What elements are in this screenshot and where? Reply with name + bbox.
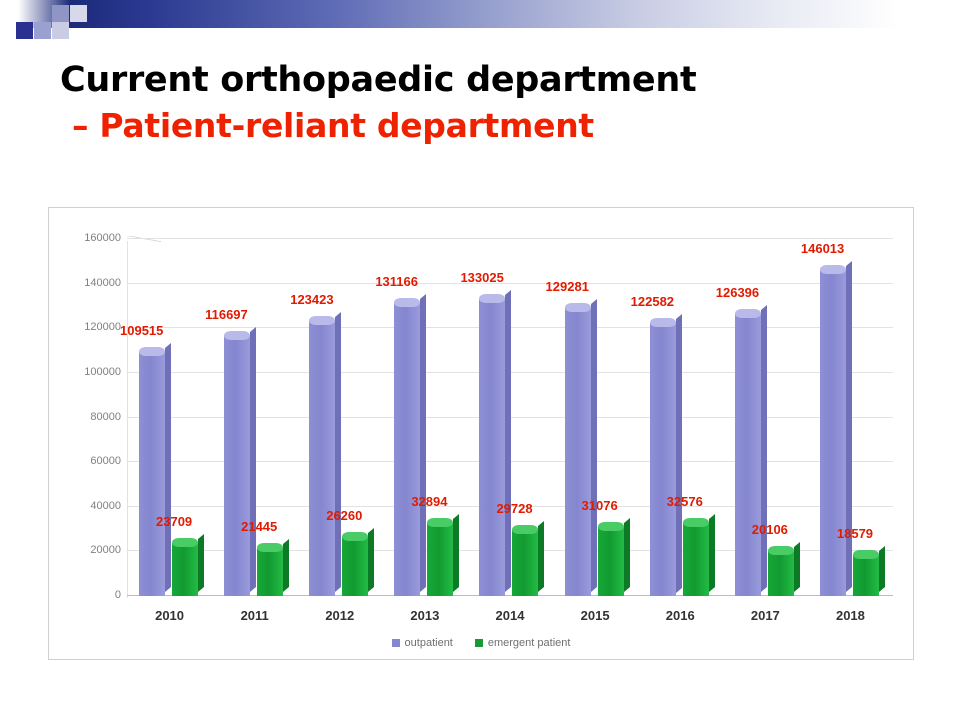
bar-side [198,534,204,592]
bar-emergent[interactable] [342,537,368,596]
bar-face [172,543,198,596]
bar-outpatient[interactable] [735,314,761,596]
bar-side [505,290,511,592]
bar-value-label-emergent: 32894 [411,494,447,509]
page-title: Current orthopaedic department [0,60,960,100]
header-square-upper-right [70,5,87,22]
bar-outpatient[interactable] [820,270,846,596]
bar-side [846,261,852,592]
bar-face [853,555,879,596]
bar-side [250,327,256,592]
bar-top [479,294,505,303]
x-tick-label: 2013 [382,608,467,623]
y-tick-label: 80000 [55,411,121,423]
bar-top [853,550,879,559]
y-tick-label: 0 [55,589,121,601]
x-tick-label: 2016 [638,608,723,623]
bar-side [761,305,767,592]
bar-emergent[interactable] [427,523,453,596]
chart-legend: outpatient emergent patient [49,637,913,649]
bar-side [676,313,682,592]
slide-header-band [0,0,960,46]
bar-value-label-outpatient: 109515 [120,323,163,338]
x-tick-label: 2018 [808,608,893,623]
legend-swatch-emergent-icon [475,639,483,647]
bar-value-label-outpatient: 133025 [460,270,503,285]
bar-value-label-outpatient: 126396 [716,285,759,300]
bar-value-label-outpatient: 131166 [375,274,418,289]
bar-side [368,528,374,592]
bar-top [650,318,676,327]
bar-side [879,546,885,592]
header-gradient-bar [0,0,960,28]
y-tick: 40000 [49,500,121,514]
y-tick: 120000 [49,321,121,335]
bar-outpatient[interactable] [394,303,420,596]
y-tick: 60000 [49,455,121,469]
bar-top [683,518,709,527]
bar-side [165,343,171,592]
bar-top [139,347,165,356]
bar-value-label-outpatient: 129281 [546,279,589,294]
legend-item-outpatient[interactable]: outpatient [392,637,453,649]
y-tick-label: 40000 [55,500,121,512]
bar-side [335,312,341,592]
bar-top [394,298,420,307]
bar-emergent[interactable] [257,548,283,596]
bar-value-label-outpatient: 122582 [631,294,674,309]
x-tick-label: 2015 [553,608,638,623]
y-tick: 80000 [49,411,121,425]
bar-value-label-outpatient: 116697 [205,307,248,322]
bar-top [820,265,846,274]
gridline [127,238,893,239]
bar-value-label-emergent: 26260 [326,508,362,523]
header-square-dark [16,22,33,39]
bar-top [598,522,624,531]
bar-face [650,323,676,597]
bar-top [768,546,794,555]
y-tick-label: 100000 [55,366,121,378]
bar-face [683,523,709,596]
bar-side [591,299,597,592]
bar-face [565,308,591,596]
x-tick-label: 2012 [297,608,382,623]
y-tick-label: 20000 [55,544,121,556]
y-tick: 20000 [49,544,121,558]
bar-face [820,270,846,596]
chart-container: 0200004000060000800001000001200001400001… [48,207,914,660]
bar-face [512,530,538,596]
bar-face [479,299,505,596]
x-tick-label: 2010 [127,608,212,623]
bar-face [768,551,794,596]
y-tick: 140000 [49,277,121,291]
bar-outpatient[interactable] [139,352,165,596]
y-tick-label: 60000 [55,455,121,467]
bar-value-label-emergent: 18579 [837,526,873,541]
bar-top [309,316,335,325]
bar-top [224,331,250,340]
bar-emergent[interactable] [683,523,709,596]
header-square-upper-left [52,5,69,22]
legend-item-emergent[interactable]: emergent patient [475,637,571,649]
bar-emergent[interactable] [172,543,198,596]
bar-side [794,542,800,592]
bar-side [624,518,630,592]
bar-face [342,537,368,596]
header-square-light [52,22,69,39]
x-tick-label: 2014 [467,608,552,623]
bar-top [512,525,538,534]
legend-label-emergent: emergent patient [488,637,571,649]
y-tick-label: 160000 [55,232,121,244]
bar-emergent[interactable] [598,527,624,596]
bar-emergent[interactable] [853,555,879,596]
y-tick: 100000 [49,366,121,380]
bar-outpatient[interactable] [224,336,250,596]
bar-emergent[interactable] [512,530,538,596]
bar-side [420,294,426,592]
plot-area: 0200004000060000800001000001200001400001… [49,208,913,659]
bar-top [172,538,198,547]
bar-face [427,523,453,596]
bar-face [394,303,420,596]
y-tick-label: 140000 [55,277,121,289]
bar-face [224,336,250,596]
x-tick-label: 2011 [212,608,297,623]
bar-side [283,539,289,592]
bar-face [735,314,761,596]
bar-value-label-emergent: 21445 [241,519,277,534]
y-axis-line [127,241,128,598]
bar-emergent[interactable] [768,551,794,596]
bar-top [427,518,453,527]
gridline [127,283,893,284]
bar-value-label-emergent: 20106 [752,522,788,537]
bar-face [139,352,165,596]
y-tick-label: 120000 [55,321,121,333]
bar-outpatient[interactable] [479,299,505,596]
legend-label-outpatient: outpatient [405,637,453,649]
bar-outpatient[interactable] [565,308,591,596]
header-square-mid [34,22,51,39]
y-tick: 160000 [49,232,121,246]
bar-value-label-emergent: 29728 [496,501,532,516]
bar-face [257,548,283,596]
bar-top [735,309,761,318]
bar-top [565,303,591,312]
page-subtitle: – Patient-reliant department [0,106,960,145]
y-axis-cap [127,236,161,242]
legend-swatch-outpatient-icon [392,639,400,647]
bar-outpatient[interactable] [309,321,335,596]
bar-outpatient[interactable] [650,323,676,597]
bar-value-label-emergent: 31076 [582,498,618,513]
bar-face [309,321,335,596]
bar-top [257,543,283,552]
bar-face [598,527,624,596]
bar-side [538,521,544,592]
bar-top [342,532,368,541]
bar-side [453,514,459,592]
y-tick: 0 [49,589,121,603]
bar-value-label-outpatient: 123423 [290,292,333,307]
title-block: Current orthopaedic department – Patient… [0,60,960,145]
bar-value-label-outpatient: 146013 [801,241,844,256]
x-tick-label: 2017 [723,608,808,623]
bar-value-label-emergent: 23709 [156,514,192,529]
bar-value-label-emergent: 32576 [667,494,703,509]
bar-side [709,514,715,592]
